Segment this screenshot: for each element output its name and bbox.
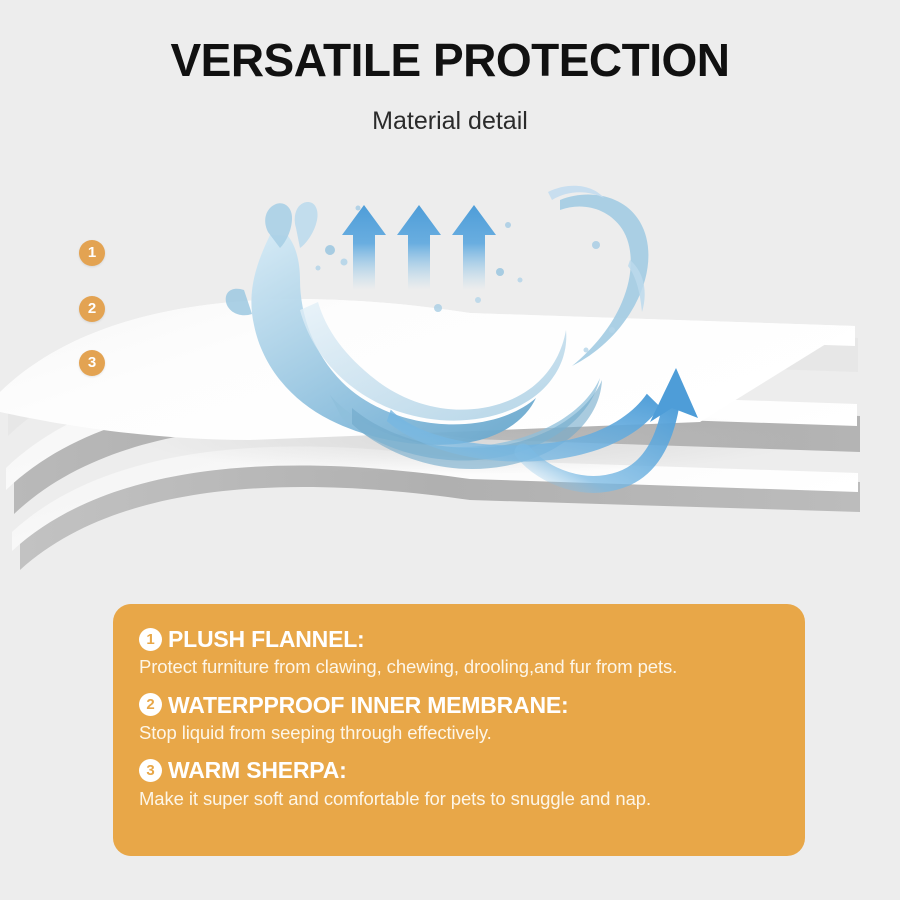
up-arrow-icon	[397, 205, 441, 290]
feature-description-1: Protect furniture from clawing, chewing,…	[139, 655, 779, 678]
feature-number-badge-1: 1	[139, 628, 162, 651]
feature-description-3: Make it super soft and comfortable for p…	[139, 787, 779, 810]
layer-marker-3: 3	[79, 350, 105, 376]
page-subtitle: Material detail	[0, 108, 900, 136]
feature-item-1: 1 PLUSH FLANNEL: Protect furniture from …	[139, 626, 779, 679]
layer-marker-2: 2	[79, 296, 105, 322]
feature-heading-3: 3 WARM SHERPA:	[139, 757, 779, 783]
up-arrow-icon	[452, 205, 496, 290]
up-arrow-group	[342, 205, 496, 290]
material-layers-illustration	[0, 140, 900, 580]
layer-marker-1: 1	[79, 240, 105, 266]
feature-heading-text-1: PLUSH FLANNEL:	[168, 626, 365, 652]
feature-description-2: Stop liquid from seeping through effecti…	[139, 721, 779, 744]
feature-heading-text-3: WARM SHERPA:	[168, 757, 347, 783]
feature-number-badge-2: 2	[139, 693, 162, 716]
infographic-canvas: VERSATILE PROTECTION Material detail	[0, 0, 900, 900]
page-title: VERSATILE PROTECTION	[0, 36, 900, 84]
feature-panel: 1 PLUSH FLANNEL: Protect furniture from …	[113, 604, 805, 856]
feature-heading-text-2: WATERPPROOF INNER MEMBRANE:	[168, 692, 569, 718]
up-arrow-icon	[342, 205, 386, 290]
feature-item-3: 3 WARM SHERPA: Make it super soft and co…	[139, 757, 779, 810]
feature-heading-1: 1 PLUSH FLANNEL:	[139, 626, 779, 652]
feature-heading-2: 2 WATERPPROOF INNER MEMBRANE:	[139, 692, 779, 718]
feature-number-badge-3: 3	[139, 759, 162, 782]
feature-item-2: 2 WATERPPROOF INNER MEMBRANE: Stop liqui…	[139, 692, 779, 745]
